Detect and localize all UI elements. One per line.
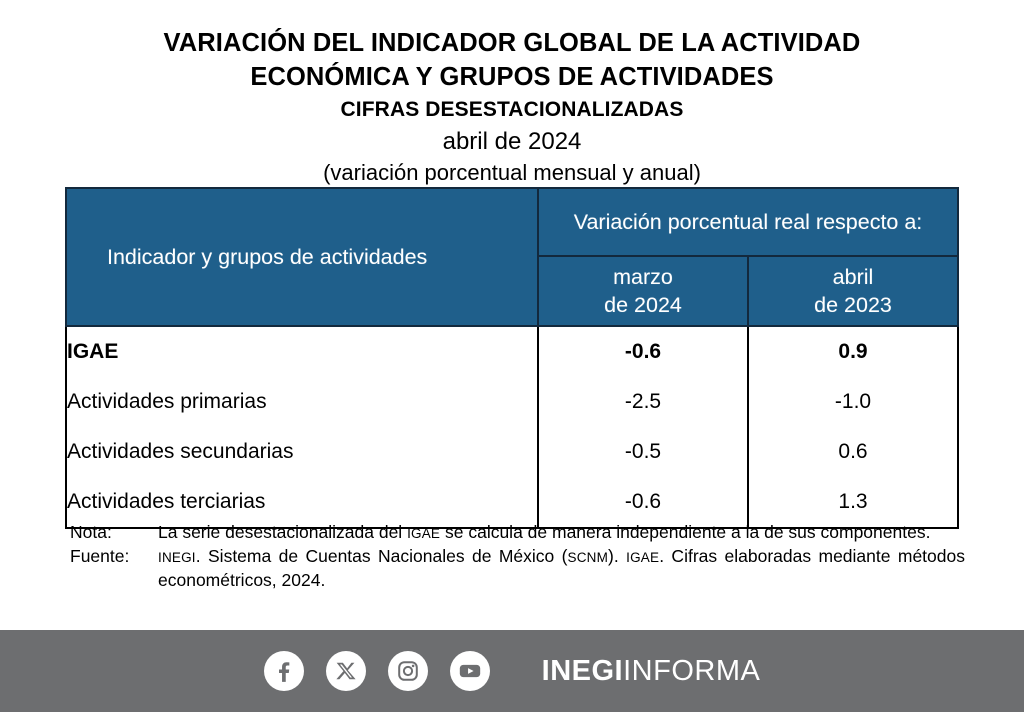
x-twitter-icon[interactable] [326, 651, 366, 691]
note-fuente-acronym-inegi: INEGI [158, 550, 196, 565]
header-abril-line1: abril [749, 263, 957, 291]
page-subtitle-units: (variación porcentual mensual y anual) [0, 158, 1024, 188]
cell-igae-marzo-2024: -0.6 [538, 326, 748, 377]
note-label-fuente: Fuente: [70, 545, 158, 568]
cell-secundarias-abril-2023: 0.6 [748, 427, 958, 477]
cell-secundarias-marzo-2024: -0.5 [538, 427, 748, 477]
youtube-icon[interactable] [450, 651, 490, 691]
note-text-fuente: INEGI. Sistema de Cuentas Nacionales de … [158, 545, 965, 592]
row-label-primarias: Actividades primarias [66, 377, 538, 427]
social-links: INEGIINFORMA [264, 651, 761, 691]
note-row-fuente: Fuente: INEGI. Sistema de Cuentas Nacion… [70, 545, 965, 592]
header-marzo-line1: marzo [539, 263, 747, 291]
instagram-icon[interactable] [388, 651, 428, 691]
note-label-nota: Nota: [70, 521, 158, 544]
header-row-top: Indicador y grupos de actividades Variac… [66, 188, 958, 256]
note-text-nota: La serie desestacionalizada del IGAE se … [158, 521, 965, 545]
header-marzo-line2: de 2024 [539, 291, 747, 319]
cell-igae-abril-2023: 0.9 [748, 326, 958, 377]
note-nota-part1: La serie desestacionalizada del [158, 522, 407, 542]
page-title-line-1: VARIACIÓN DEL INDICADOR GLOBAL DE LA ACT… [0, 26, 1024, 60]
note-row-nota: Nota: La serie desestacionalizada del IG… [70, 521, 965, 545]
footer-bar: INEGIINFORMA [0, 630, 1024, 712]
brand-wordmark: INEGIINFORMA [542, 655, 761, 688]
brand-inegi: INEGI [542, 655, 623, 687]
table-row: Actividades secundarias -0.5 0.6 [66, 427, 958, 477]
cell-primarias-marzo-2024: -2.5 [538, 377, 748, 427]
igae-variation-table: Indicador y grupos de actividades Variac… [65, 187, 959, 529]
note-fuente-acronym-scnm: SCNM [567, 550, 608, 565]
table-row: Actividades primarias -2.5 -1.0 [66, 377, 958, 427]
cell-primarias-abril-2023: -1.0 [748, 377, 958, 427]
facebook-icon[interactable] [264, 651, 304, 691]
header-cell-marzo-2024: marzo de 2024 [538, 256, 748, 326]
header-cell-group: Variación porcentual real respecto a: [538, 188, 958, 256]
brand-informa: INFORMA [623, 655, 760, 687]
note-fuente-acronym-igae: IGAE [626, 550, 659, 565]
table-body: IGAE -0.6 0.9 Actividades primarias -2.5… [66, 326, 958, 528]
row-label-igae: IGAE [66, 326, 538, 377]
header-cell-abril-2023: abril de 2023 [748, 256, 958, 326]
note-fuente-part1: . Sistema de Cuentas Nacionales de Méxic… [196, 546, 568, 566]
note-nota-acronym-igae: IGAE [407, 526, 440, 541]
row-label-secundarias: Actividades secundarias [66, 427, 538, 477]
page-title-line-2: ECONÓMICA Y GRUPOS DE ACTIVIDADES [0, 60, 1024, 94]
header-abril-line2: de 2023 [749, 291, 957, 319]
page-subtitle-figures: CIFRAS DESESTACIONALIZADAS [0, 94, 1024, 125]
header-cell-indicator: Indicador y grupos de actividades [66, 188, 538, 326]
footnotes: Nota: La serie desestacionalizada del IG… [70, 521, 965, 592]
data-table-container: Indicador y grupos de actividades Variac… [65, 187, 959, 529]
table-row: IGAE -0.6 0.9 [66, 326, 958, 377]
page-subtitle-period: abril de 2024 [0, 125, 1024, 158]
note-fuente-part2: ). [608, 546, 626, 566]
table-header: Indicador y grupos de actividades Variac… [66, 188, 958, 326]
title-block: VARIACIÓN DEL INDICADOR GLOBAL DE LA ACT… [0, 0, 1024, 188]
note-nota-part2: se calcula de manera independiente a la … [440, 522, 930, 542]
